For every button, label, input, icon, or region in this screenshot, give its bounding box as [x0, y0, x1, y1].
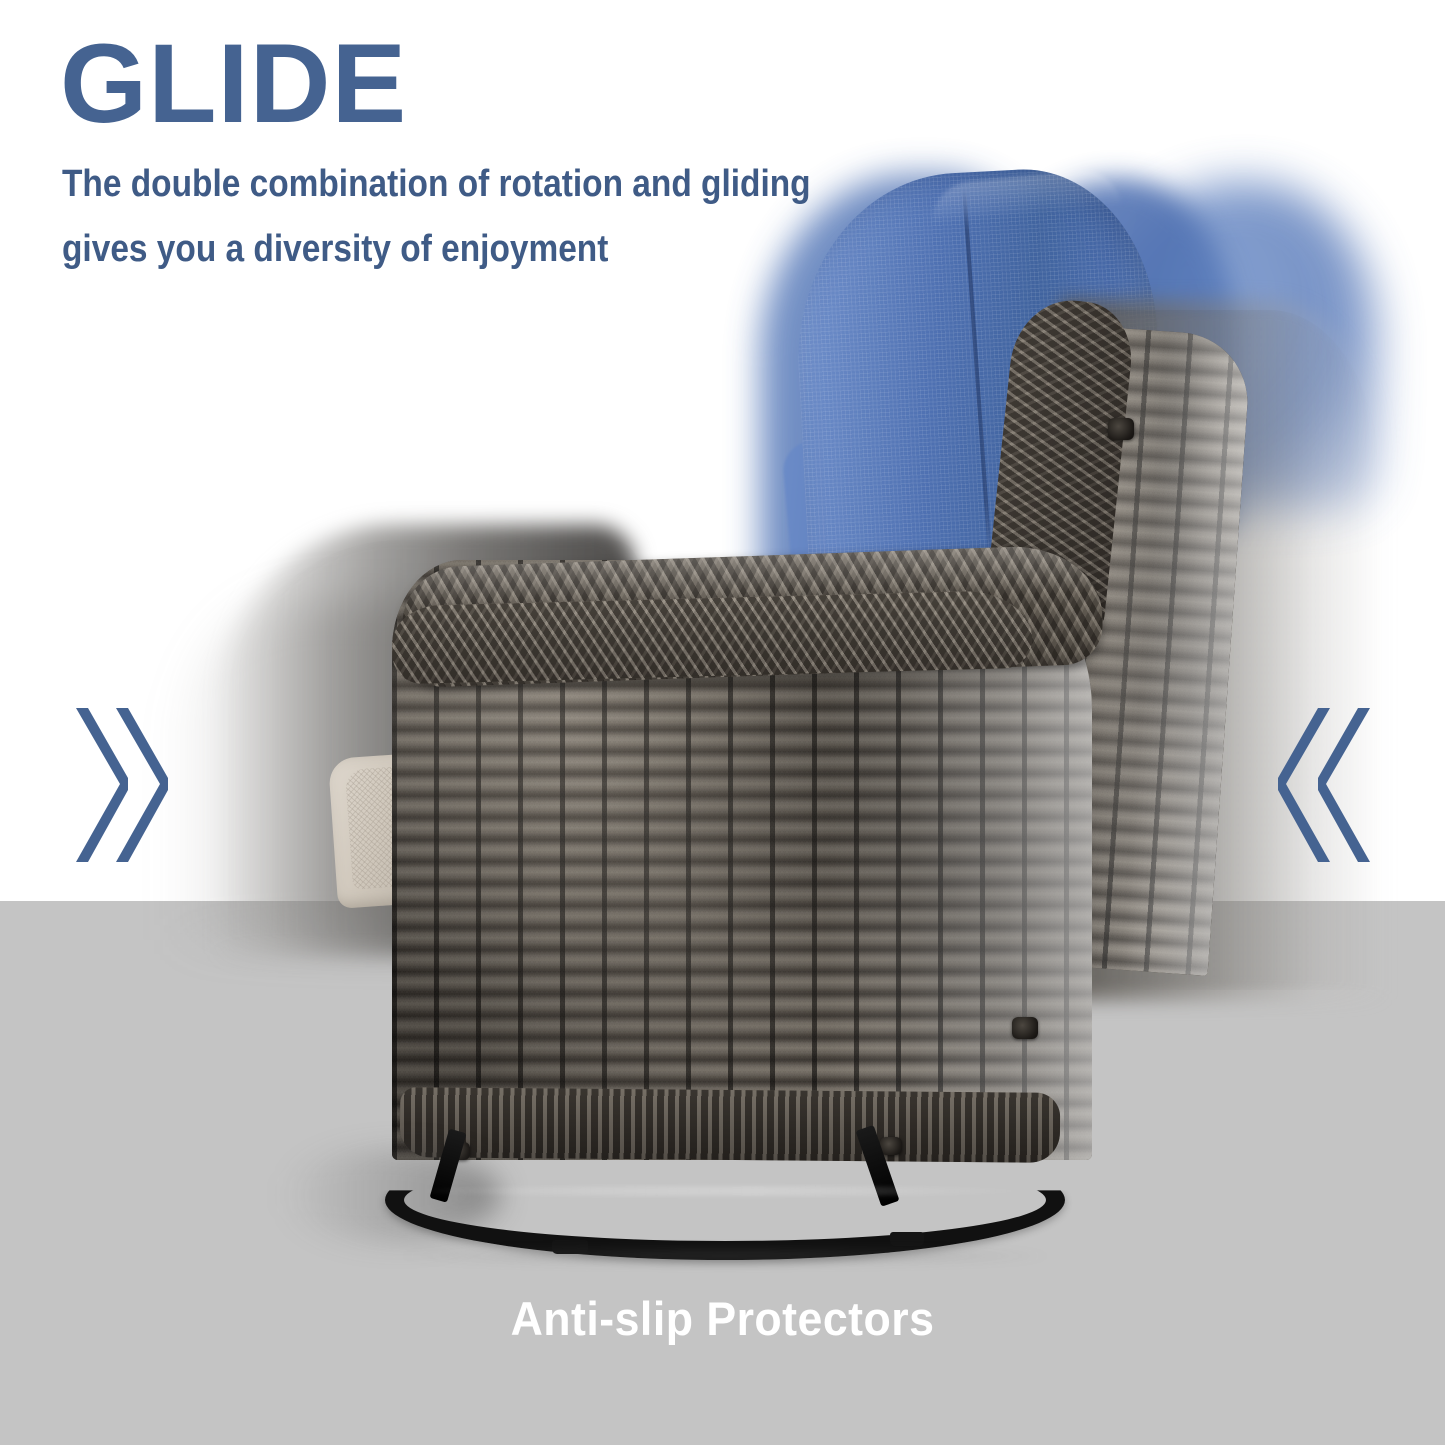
page-title: GLIDE [60, 28, 407, 140]
frame-bolt [880, 1137, 902, 1155]
base-contact-shadow [400, 1248, 1050, 1264]
subtitle-line-2: gives you a diversity of enjoyment [62, 228, 608, 271]
product-feature-image: GLIDE The double combination of rotation… [0, 0, 1445, 1445]
frame-bolt [1108, 418, 1134, 440]
double-chevron-left-icon [1268, 700, 1388, 870]
base-ring-highlight [405, 1186, 1045, 1196]
frame-bolt [1012, 1017, 1038, 1039]
feature-caption: Anti-slip Protectors [36, 1291, 1409, 1346]
double-chevron-right-icon [58, 700, 178, 870]
subtitle-line-1: The double combination of rotation and g… [62, 163, 811, 206]
product-photo [0, 0, 1445, 1445]
seat-apron [400, 1087, 1061, 1163]
anti-slip-foot-pad [890, 1232, 924, 1246]
